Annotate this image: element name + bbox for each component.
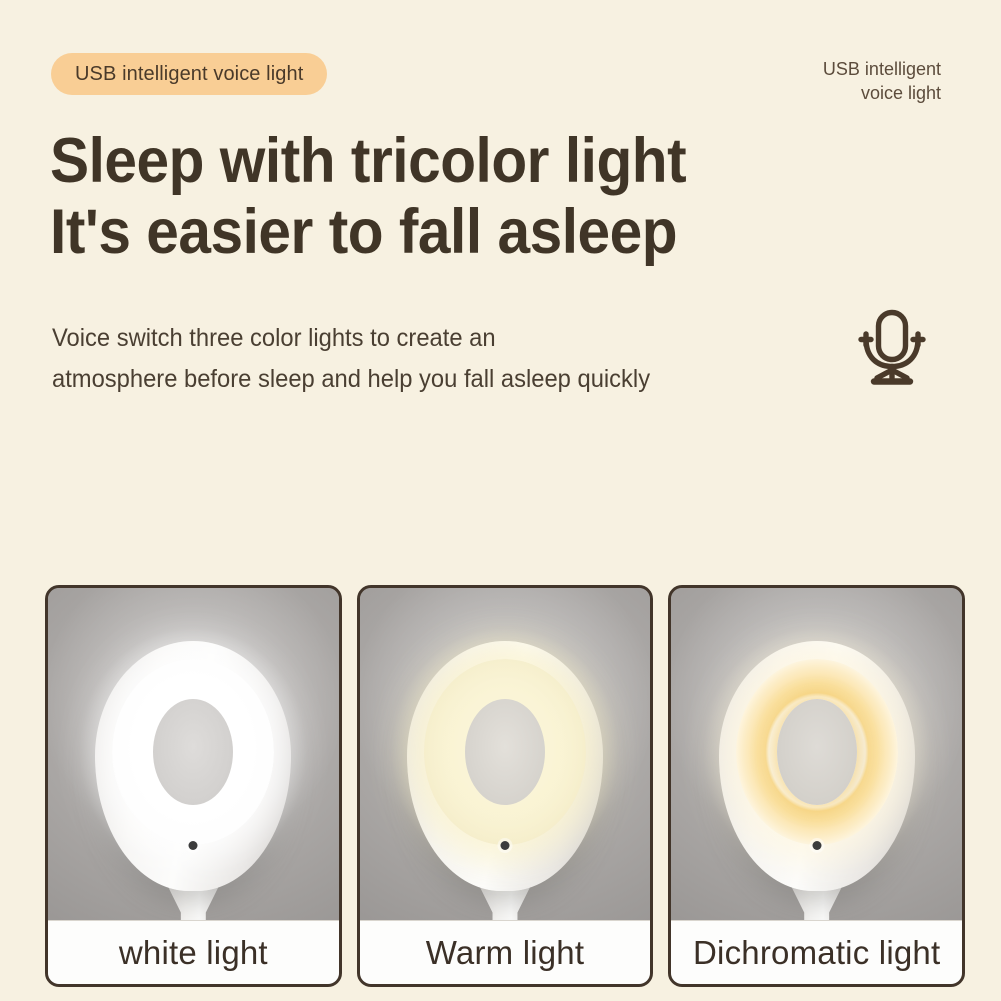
sensor-dot <box>189 841 198 850</box>
product-card-dichromatic-light[interactable]: Dichromatic light <box>668 585 965 987</box>
product-photo <box>48 588 339 920</box>
ring-light-white <box>112 659 274 845</box>
page-title: Sleep with tricolor light It's easier to… <box>50 126 686 267</box>
product-card-list: white light Warm light <box>45 585 965 987</box>
ring-inner-hole <box>153 699 233 805</box>
product-badge: USB intelligent voice light <box>51 53 327 95</box>
ring-inner-hole <box>465 699 545 805</box>
description-text: Voice switch three color lights to creat… <box>52 318 650 399</box>
ring-light-warm <box>424 659 586 845</box>
product-photo <box>360 588 651 920</box>
card-caption: white light <box>48 920 339 984</box>
product-infographic: USB intelligent voice light USB intellig… <box>0 0 1001 1001</box>
product-photo <box>671 588 962 920</box>
sensor-dot <box>501 841 510 850</box>
ring-inner-hole <box>777 699 857 805</box>
sensor-dot <box>812 841 821 850</box>
product-card-warm-light[interactable]: Warm light <box>357 585 654 987</box>
card-caption: Dichromatic light <box>671 920 962 984</box>
corner-brand-label: USB intelligent voice light <box>823 57 941 106</box>
product-card-white-light[interactable]: white light <box>45 585 342 987</box>
card-caption: Warm light <box>360 920 651 984</box>
ring-light-dichromatic <box>736 659 898 845</box>
microphone-icon <box>852 308 932 392</box>
